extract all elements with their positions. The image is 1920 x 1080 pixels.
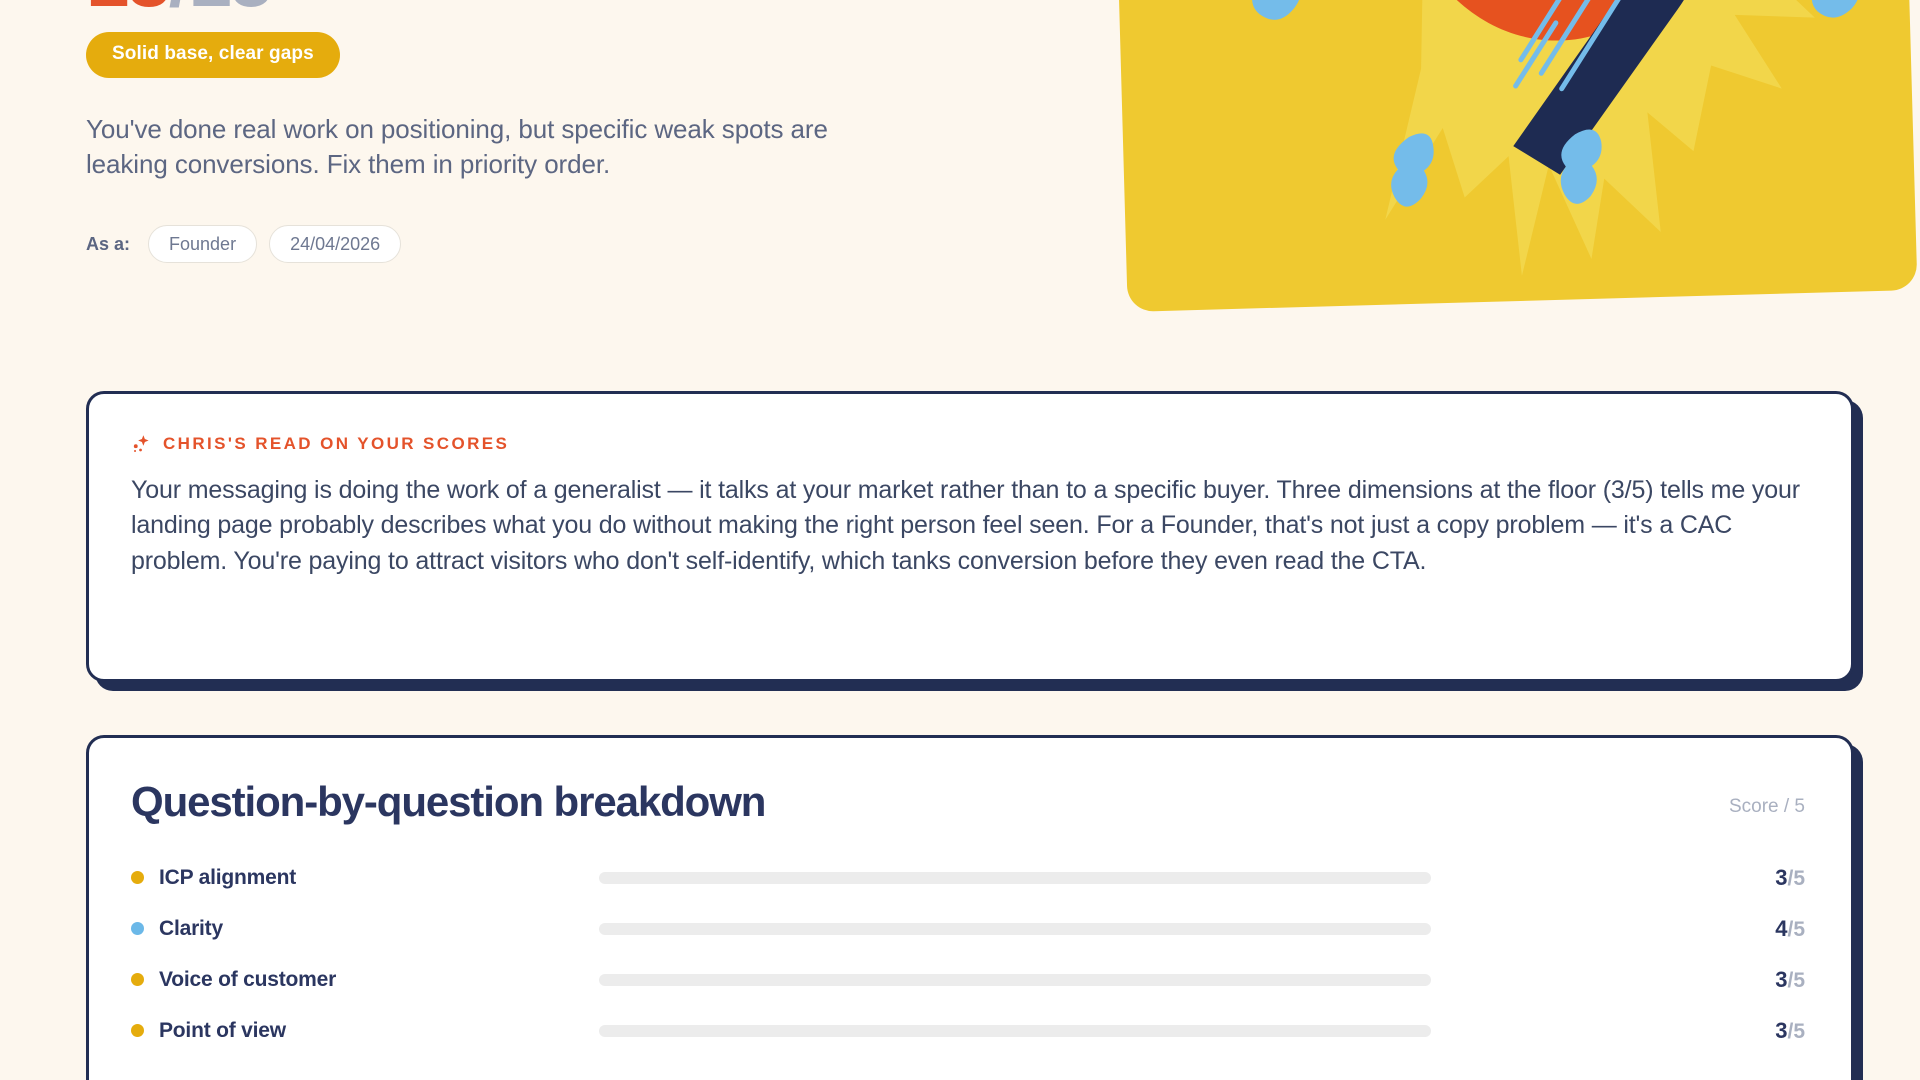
meta-label: As a: bbox=[86, 234, 130, 255]
breakdown-score-header: Score / 5 bbox=[1729, 796, 1805, 826]
breakdown-row: Clarity4/5 bbox=[131, 903, 1805, 954]
row-score-value: 3 bbox=[1775, 1018, 1787, 1043]
results-page: 13/15 Solid base, clear gaps You've done… bbox=[0, 0, 1920, 1080]
chris-read-card: CHRIS'S READ ON YOUR SCORES Your messagi… bbox=[86, 391, 1854, 682]
chris-read-eyebrow-text: CHRIS'S READ ON YOUR SCORES bbox=[163, 434, 509, 454]
breakdown-row: Point of view3/5 bbox=[131, 1005, 1805, 1056]
row-score-denominator: /5 bbox=[1787, 1020, 1805, 1043]
row-score: 3/5 bbox=[1735, 967, 1805, 993]
row-score-value: 3 bbox=[1775, 865, 1787, 890]
row-score-value: 3 bbox=[1775, 967, 1787, 992]
status-badge: Solid base, clear gaps bbox=[86, 32, 340, 78]
chris-read-eyebrow: CHRIS'S READ ON YOUR SCORES bbox=[131, 433, 1851, 455]
chris-read-body: Your messaging is doing the work of a ge… bbox=[131, 473, 1807, 579]
breakdown-header: Question-by-question breakdown Score / 5 bbox=[131, 778, 1805, 826]
hero-section: 13/15 Solid base, clear gaps You've done… bbox=[0, 0, 1920, 360]
row-progress-track bbox=[599, 1025, 1431, 1037]
row-progress-track bbox=[599, 872, 1431, 884]
meta-row: As a: Founder 24/04/2026 bbox=[86, 225, 986, 263]
breakdown-title: Question-by-question breakdown bbox=[131, 778, 765, 826]
sparkle-icon bbox=[131, 433, 153, 455]
row-label: Clarity bbox=[159, 917, 599, 941]
meatball-with-fork-icon bbox=[1113, 0, 1918, 312]
role-pill: Founder bbox=[148, 225, 257, 263]
row-dot-icon bbox=[131, 871, 144, 884]
row-score-denominator: /5 bbox=[1787, 918, 1805, 941]
row-label: Voice of customer bbox=[159, 968, 599, 992]
row-label: ICP alignment bbox=[159, 866, 599, 890]
sparkle-glyph bbox=[131, 433, 153, 455]
breakdown-rows: ICP alignment3/5Clarity4/5Voice of custo… bbox=[131, 852, 1805, 1056]
row-score: 3/5 bbox=[1735, 1018, 1805, 1044]
row-progress-track bbox=[599, 974, 1431, 986]
row-score-denominator: /5 bbox=[1787, 867, 1805, 890]
overall-score-slash: / bbox=[169, 0, 189, 23]
breakdown-card: Question-by-question breakdown Score / 5… bbox=[86, 735, 1854, 1080]
row-dot-icon bbox=[131, 922, 144, 935]
row-progress-track bbox=[599, 923, 1431, 935]
hero-illustration-card bbox=[1113, 0, 1918, 312]
overall-score-value: 13 bbox=[86, 0, 169, 23]
breakdown-row: Voice of customer3/5 bbox=[131, 954, 1805, 1005]
breakdown-row: ICP alignment3/5 bbox=[131, 852, 1805, 903]
row-score-value: 4 bbox=[1775, 916, 1787, 941]
hero-subtitle: You've done real work on positioning, bu… bbox=[86, 112, 896, 181]
overall-score-max: 15 bbox=[188, 0, 271, 23]
date-pill: 24/04/2026 bbox=[269, 225, 401, 263]
row-dot-icon bbox=[131, 973, 144, 986]
row-score: 4/5 bbox=[1735, 916, 1805, 942]
row-score: 3/5 bbox=[1735, 865, 1805, 891]
illustration-canvas bbox=[1113, 0, 1918, 312]
row-score-denominator: /5 bbox=[1787, 969, 1805, 992]
row-dot-icon bbox=[131, 1024, 144, 1037]
row-label: Point of view bbox=[159, 1019, 599, 1043]
hero-text-block: 13/15 Solid base, clear gaps You've done… bbox=[86, 0, 986, 263]
overall-score: 13/15 bbox=[86, 0, 986, 18]
